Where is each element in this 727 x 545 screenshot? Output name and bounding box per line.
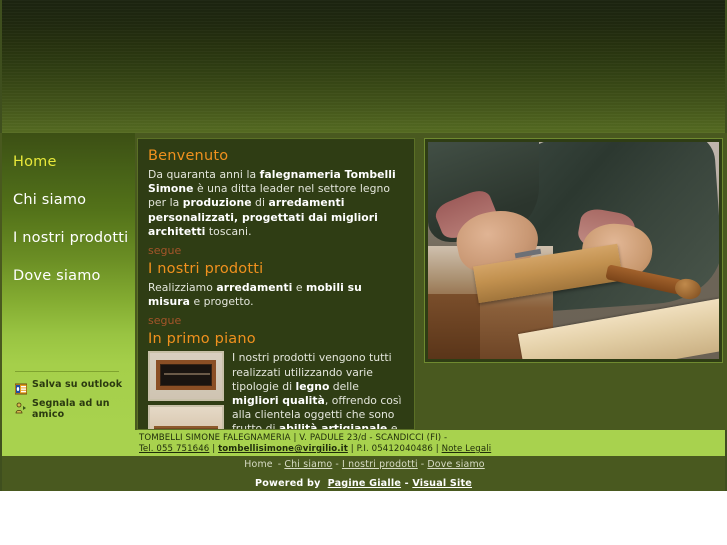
site-footer: Home-Chi siamo-I nostri prodotti-Dove si…	[0, 456, 727, 491]
carpenter-photo-frame	[424, 138, 723, 363]
outlook-icon	[15, 380, 27, 392]
contact-band: TOMBELLI SIMONE FALEGNAMERIA | V. PADULE…	[0, 430, 727, 456]
primo-piano-row: I nostri prodotti vengono tutti realizza…	[148, 351, 404, 430]
welcome-t4: toscani.	[205, 225, 251, 238]
page-root: Home Chi siamo I nostri prodotti Dove si…	[0, 0, 727, 545]
tell-a-friend-label: Segnala ad un amico	[32, 398, 127, 420]
pagine-gialle-link[interactable]: Pagine Gialle	[328, 478, 401, 489]
footer-nav: Home-Chi siamo-I nostri prodotti-Dove si…	[2, 456, 725, 470]
sidebar-item-i-nostri-prodotti[interactable]: I nostri prodotti	[2, 223, 135, 253]
primo-b1: legno	[296, 380, 330, 393]
contact-line-2: Tel. 055 751646 | tombellisimone@virgili…	[139, 444, 725, 455]
welcome-t1: Da quaranta anni la	[148, 168, 260, 181]
sidebar-nav: Home Chi siamo I nostri prodotti Dove si…	[2, 133, 135, 430]
contact-info: TOMBELLI SIMONE FALEGNAMERIA | V. PADULE…	[2, 430, 725, 455]
primo-t2: delle	[329, 380, 359, 393]
footer-link-dove-siamo[interactable]: Dove siamo	[427, 459, 484, 470]
phone-link[interactable]: Tel. 055 751646	[139, 444, 209, 454]
contact-sep-1: |	[293, 433, 296, 443]
welcome-paragraph: Da quaranta anni la falegnameria Tombell…	[148, 168, 404, 239]
photo-workbench-leg	[428, 294, 480, 359]
share-divider	[15, 371, 119, 372]
share-block: Salva su outlook Segnala ad un amico	[15, 371, 127, 426]
footer-dash-3: -	[421, 459, 425, 470]
powered-by: Powered by Pagine Gialle - Visual Site	[2, 470, 725, 489]
company-address: V. PADULE 23/d - SCANDICCI (FI) -	[299, 433, 447, 443]
section-title-primo-piano: In primo piano	[148, 330, 404, 348]
contact-line-1: TOMBELLI SIMONE FALEGNAMERIA | V. PADULE…	[139, 433, 725, 444]
section-title-prodotti: I nostri prodotti	[148, 260, 404, 278]
welcome-t3: di	[252, 196, 269, 209]
vat-number: P.I. 05412040486	[357, 444, 433, 454]
footer-dash-1: -	[278, 459, 282, 470]
thumbnail-wall-unit[interactable]	[148, 351, 224, 401]
save-to-outlook-button[interactable]: Salva su outlook	[15, 379, 127, 392]
welcome-b2: produzione	[183, 196, 252, 209]
site-banner	[0, 0, 727, 133]
primo-piano-text: I nostri prodotti vengono tutti realizza…	[225, 351, 404, 430]
company-name: TOMBELLI SIMONE FALEGNAMERIA	[139, 433, 291, 443]
footer-link-chi-siamo[interactable]: Chi siamo	[284, 459, 332, 470]
segue-link-benvenuto[interactable]: segue	[148, 243, 181, 258]
thumbnail-sideboard[interactable]	[148, 405, 224, 430]
contact-sep-4: |	[436, 444, 439, 454]
products-t1: Realizziamo	[148, 281, 216, 294]
content-panel: Benvenuto Da quaranta anni la falegnamer…	[137, 138, 415, 430]
contact-sep-2: |	[212, 444, 215, 454]
products-paragraph: Realizziamo arredamenti e mobili su misu…	[148, 281, 404, 309]
legal-notes-link[interactable]: Note Legali	[442, 444, 492, 454]
thumbnail-column	[148, 351, 225, 430]
segue-link-prodotti[interactable]: segue	[148, 313, 181, 328]
footer-link-home[interactable]: Home	[244, 459, 273, 470]
sidebar-item-chi-siamo[interactable]: Chi siamo	[2, 185, 135, 215]
tell-a-friend-button[interactable]: Segnala ad un amico	[15, 398, 127, 420]
carpenter-hands-photo	[428, 142, 719, 359]
powered-dash: -	[405, 478, 409, 489]
products-t2: e	[292, 281, 306, 294]
body-zone: Home Chi siamo I nostri prodotti Dove si…	[0, 133, 727, 430]
sidebar-item-home[interactable]: Home	[2, 147, 135, 177]
save-to-outlook-label: Salva su outlook	[32, 379, 122, 390]
primo-b3: abilità artigianale	[279, 422, 388, 430]
footer-link-i-nostri-prodotti[interactable]: I nostri prodotti	[342, 459, 418, 470]
powered-by-label: Powered by	[255, 478, 321, 489]
products-t3: e progetto.	[190, 295, 254, 308]
primo-b2: migliori qualità	[232, 394, 325, 407]
sidebar-item-dove-siamo[interactable]: Dove siamo	[2, 261, 135, 291]
products-b1: arredamenti	[216, 281, 292, 294]
section-title-benvenuto: Benvenuto	[148, 147, 404, 165]
person-share-icon	[15, 399, 27, 411]
email-link[interactable]: tombellisimone@virgilio.it	[218, 444, 348, 454]
footer-dash-2: -	[335, 459, 339, 470]
visual-site-link[interactable]: Visual Site	[412, 478, 472, 489]
contact-sep-3: |	[351, 444, 354, 454]
